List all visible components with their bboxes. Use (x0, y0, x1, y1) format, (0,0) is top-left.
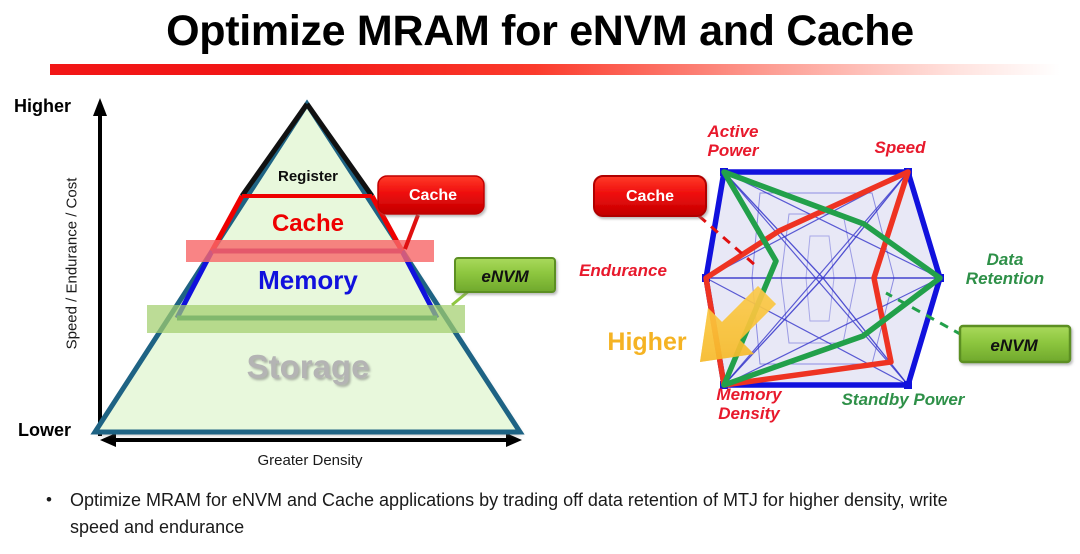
tier-label-register: Register (238, 168, 378, 185)
pyramid-envm-callout-label[interactable]: eNVM (462, 267, 548, 287)
y-axis-title: Speed / Endurance / Cost (64, 154, 81, 374)
radar-axis-label-active-power: Active Power (668, 122, 798, 160)
tier-label-storage: Storage (198, 348, 418, 386)
tier-label-cache: Cache (228, 210, 388, 238)
radar-axis-label-speed: Speed (840, 138, 960, 157)
radar-axis-label-data-retention: Data Retention (940, 250, 1070, 288)
bullet-marker: • (46, 487, 52, 541)
y-axis-bottom-label: Lower (18, 420, 71, 441)
bullet-list: • Optimize MRAM for eNVM and Cache appli… (46, 487, 1046, 541)
slide-root: Optimize MRAM for eNVM and Cache (0, 0, 1080, 554)
pyramid-cache-callout-label[interactable]: Cache (386, 187, 480, 205)
x-axis-title: Greater Density (160, 452, 460, 469)
higher-arrow-label: Higher (592, 333, 702, 352)
radar-axis-label-endurance: Endurance (548, 261, 698, 280)
cache-highlight-band (186, 240, 434, 262)
radar-axis-label-standby-power: Standby Power (818, 390, 988, 409)
y-axis-top-label: Higher (14, 96, 71, 117)
bullet-text: Optimize MRAM for eNVM and Cache applica… (70, 487, 970, 541)
envm-highlight-band (147, 305, 465, 333)
radar-cache-callout-label[interactable]: Cache (602, 188, 698, 206)
radar-envm-callout-label[interactable]: eNVM (966, 336, 1062, 356)
tier-label-memory: Memory (218, 265, 398, 296)
radar-axis-label-memory-density: Memory Density (684, 385, 814, 423)
